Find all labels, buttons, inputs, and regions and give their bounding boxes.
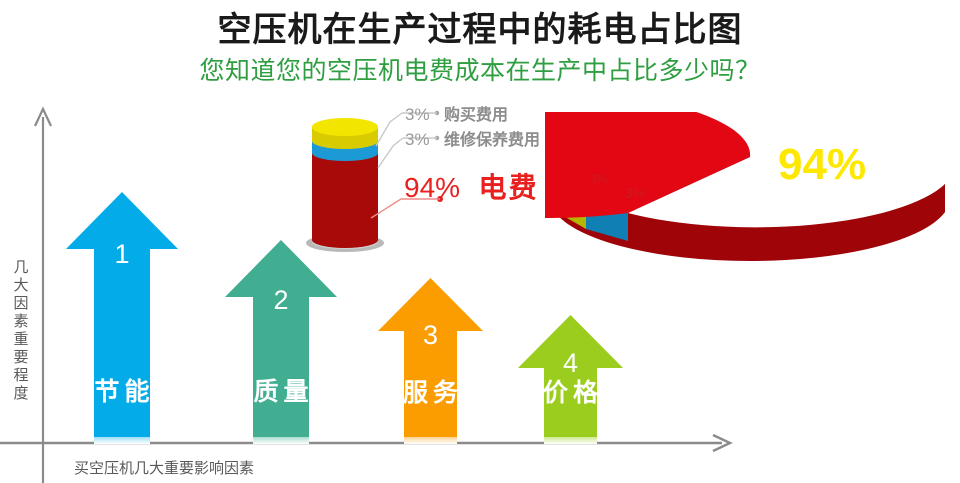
pie-chart-3d[interactable] [545, 112, 955, 272]
y-axis-label: 几 大 因 素 重 要 程 度 [8, 258, 34, 402]
callout-maintenance-label: 维修保养费用 [444, 130, 540, 149]
callout-purchase-label: 购买费用 [444, 105, 508, 124]
callout-purchase-pct: 3% [405, 105, 430, 124]
x-axis-label: 买空压机几大重要影响因素 [74, 457, 254, 478]
bar-rank-3: 3 [378, 320, 483, 351]
bar-reflection-3 [404, 437, 457, 444]
bar-label-3: 服务 [378, 373, 483, 409]
bar-label-4: 价格 [518, 373, 623, 409]
bar-rank-2: 2 [225, 285, 337, 316]
cylinder-shape [300, 112, 390, 252]
bar-reflection-1 [94, 437, 150, 444]
bar-reflection-4 [544, 437, 597, 444]
bar-arrow-3[interactable]: 3 服务 [378, 278, 483, 437]
arrow-shape-3 [378, 278, 483, 437]
callout-maintenance-pct: 3% [405, 130, 430, 149]
pie-label-yellow-slice: 3% [590, 172, 607, 186]
pie-shape [545, 112, 955, 272]
bar-label-2: 质量 [225, 372, 337, 408]
stacked-cylinder[interactable] [300, 112, 390, 252]
pie-label-blue-slice: 3% [625, 185, 645, 201]
callout-maintenance: 3% 维修保养费用 [405, 126, 540, 150]
bar-arrow-4[interactable]: 4 价格 [518, 315, 623, 437]
callout-electricity-pct: 94% [404, 172, 460, 203]
bar-rank-1: 1 [66, 239, 178, 270]
bar-label-1: 节能 [66, 372, 178, 408]
bar-arrow-1[interactable]: 1 节能 [66, 192, 178, 437]
page-subtitle: 您知道您的空压机电费成本在生产中占比多少吗？ [0, 51, 960, 87]
infographic-canvas: 空压机在生产过程中的耗电占比图 您知道您的空压机电费成本在生产中占比多少吗？ 几… [0, 0, 960, 483]
callout-purchase: 3% 购买费用 [405, 101, 508, 125]
pie-label-main: 94% [778, 140, 866, 190]
callout-electricity-label: 电费 [479, 171, 539, 204]
callout-electricity: 94% 电费 [404, 166, 539, 206]
bar-reflection-2 [253, 437, 309, 444]
page-title: 空压机在生产过程中的耗电占比图 [0, 2, 960, 51]
bar-arrow-2[interactable]: 2 质量 [225, 240, 337, 437]
